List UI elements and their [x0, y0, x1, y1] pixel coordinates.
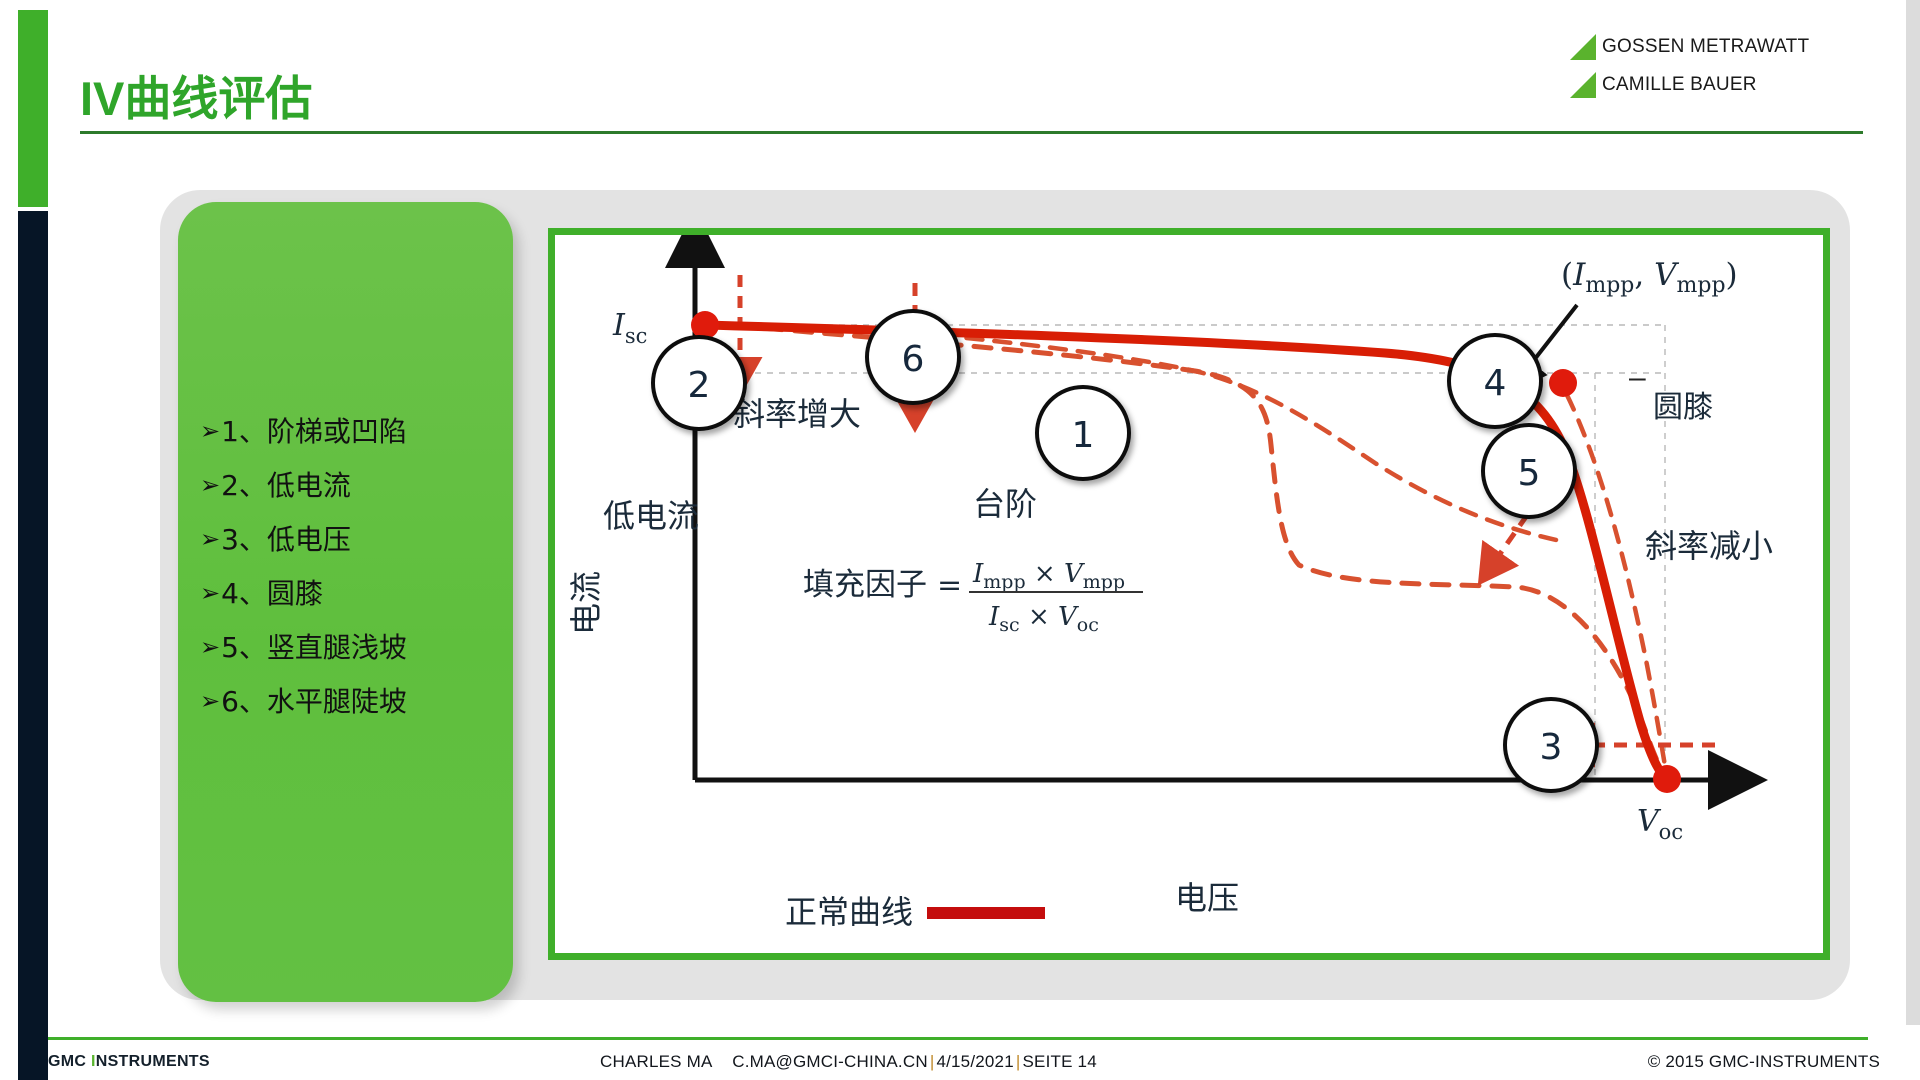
callout-number: 3	[1540, 727, 1563, 768]
left-accent-dark-bar	[18, 211, 48, 1080]
list-item: ➢ 4、圆膝	[200, 580, 520, 608]
arrow-bullet-icon: ➢	[200, 580, 220, 608]
formula-denominator: Isc × Voc	[988, 602, 1099, 636]
callout-number: 2	[688, 365, 711, 406]
callout-number: 1	[1072, 415, 1095, 456]
legend-label: 正常曲线	[785, 893, 913, 931]
arrow-bullet-icon: ➢	[200, 472, 220, 500]
page-title: IV曲线评估	[80, 60, 312, 129]
footer-meta: CHARLES MA C.MA@GMCI-CHINA.CN|4/15/2021|…	[600, 1052, 1097, 1072]
list-item-label: 3、低电压	[221, 526, 351, 554]
slide-root: IV曲线评估 GOSSEN METRAWATT CAMILLE BAUER ➢ …	[0, 0, 1920, 1080]
fill-factor-formula: 填充因子 = Impp × Vmpp Isc × Voc	[803, 559, 1143, 636]
arrow-bullet-icon: ➢	[200, 418, 220, 446]
footer-copyright: © 2015 GMC-INSTRUMENTS	[1648, 1052, 1880, 1072]
footer-brand-prefix: GMC	[48, 1053, 91, 1070]
mpp-point	[1549, 369, 1577, 397]
list-item: ➢ 6、水平腿陡坡	[200, 688, 520, 716]
callout-number: 5	[1518, 453, 1541, 494]
callout-3: 3	[1505, 699, 1597, 791]
footer-divider	[48, 1037, 1868, 1040]
list-item-label: 4、圆膝	[221, 580, 323, 608]
brand-row-gossen: GOSSEN METRAWATT	[1570, 28, 1870, 66]
round-knee-label: 圆膝	[1653, 390, 1713, 425]
legend-swatch	[927, 907, 1045, 919]
list-item-label: 2、低电流	[221, 472, 351, 500]
formula-lhs: 填充因子	[803, 567, 927, 603]
y-axis-title: 电流	[567, 571, 605, 635]
left-accent-green-bar	[18, 10, 48, 207]
footer-author: CHARLES MA	[600, 1052, 713, 1071]
arrow-bullet-icon: ➢	[200, 526, 220, 554]
x-axis-title: 电压	[1175, 879, 1239, 917]
isc-label: Isc	[612, 308, 647, 348]
callout-number: 4	[1484, 363, 1507, 404]
chart-legend: 正常曲线	[785, 893, 1045, 931]
slope-increase-label: 斜率增大	[733, 395, 861, 433]
list-item-label: 5、竖直腿浅坡	[221, 634, 407, 662]
footer-separator: |	[1014, 1052, 1023, 1071]
title-underline	[80, 131, 1863, 134]
callout-6: 6	[867, 311, 959, 403]
callout-1: 1	[1037, 387, 1129, 479]
low-current-label: 低电流	[603, 497, 699, 535]
list-item: ➢ 1、阶梯或凹陷	[200, 418, 520, 446]
brand-label-camille: CAMILLE BAUER	[1602, 74, 1757, 96]
list-item: ➢ 3、低电压	[200, 526, 520, 554]
fault-list: ➢ 1、阶梯或凹陷 ➢ 2、低电流 ➢ 3、低电压 ➢ 4、圆膝 ➢ 5、竖直腿…	[200, 418, 520, 742]
green-triangle-icon	[1570, 34, 1596, 60]
right-edge-strip	[1906, 0, 1920, 1025]
footer-email: C.MA@GMCI-CHINA.CN	[732, 1052, 928, 1071]
brand-label-gossen: GOSSEN METRAWATT	[1602, 36, 1809, 58]
arrow-bullet-icon: ➢	[200, 634, 220, 662]
list-item-label: 6、水平腿陡坡	[221, 688, 407, 716]
callout-number: 6	[902, 339, 925, 380]
mpp-dash-glyph: –	[1629, 361, 1646, 394]
iv-curve-chart-panel: Isc Voc (Impp, Vmpp) – 圆膝 斜率增大 台阶 低电流 斜率…	[548, 228, 1830, 960]
voc-point	[1653, 765, 1681, 793]
brand-row-camille: CAMILLE BAUER	[1570, 66, 1870, 104]
isc-point	[691, 311, 719, 339]
slope-decrease-label: 斜率减小	[1645, 527, 1773, 565]
footer-brand: GMC INSTRUMENTS	[48, 1053, 210, 1071]
footer-brand-rest: NSTRUMENTS	[96, 1053, 210, 1070]
list-item: ➢ 5、竖直腿浅坡	[200, 634, 520, 662]
arrow-bullet-icon: ➢	[200, 688, 220, 716]
iv-curve-svg: Isc Voc (Impp, Vmpp) – 圆膝 斜率增大 台阶 低电流 斜率…	[555, 235, 1823, 953]
green-triangle-icon	[1570, 72, 1596, 98]
formula-numerator: Impp × Vmpp	[972, 559, 1125, 593]
list-item: ➢ 2、低电流	[200, 472, 520, 500]
callout-2: 2	[653, 337, 745, 429]
mpp-label: (Impp, Vmpp)	[1561, 257, 1738, 298]
footer-page: SEITE 14	[1023, 1052, 1097, 1071]
formula-equals: =	[937, 568, 962, 603]
step-label: 台阶	[973, 485, 1037, 523]
voc-label: Voc	[1637, 804, 1683, 844]
list-item-label: 1、阶梯或凹陷	[221, 418, 407, 446]
iv-curve-chart: Isc Voc (Impp, Vmpp) – 圆膝 斜率增大 台阶 低电流 斜率…	[555, 235, 1823, 953]
callout-5: 5	[1483, 425, 1575, 517]
callout-4: 4	[1449, 335, 1541, 427]
footer-date: 4/15/2021	[936, 1052, 1013, 1071]
brand-logo-group: GOSSEN METRAWATT CAMILLE BAUER	[1570, 28, 1870, 104]
